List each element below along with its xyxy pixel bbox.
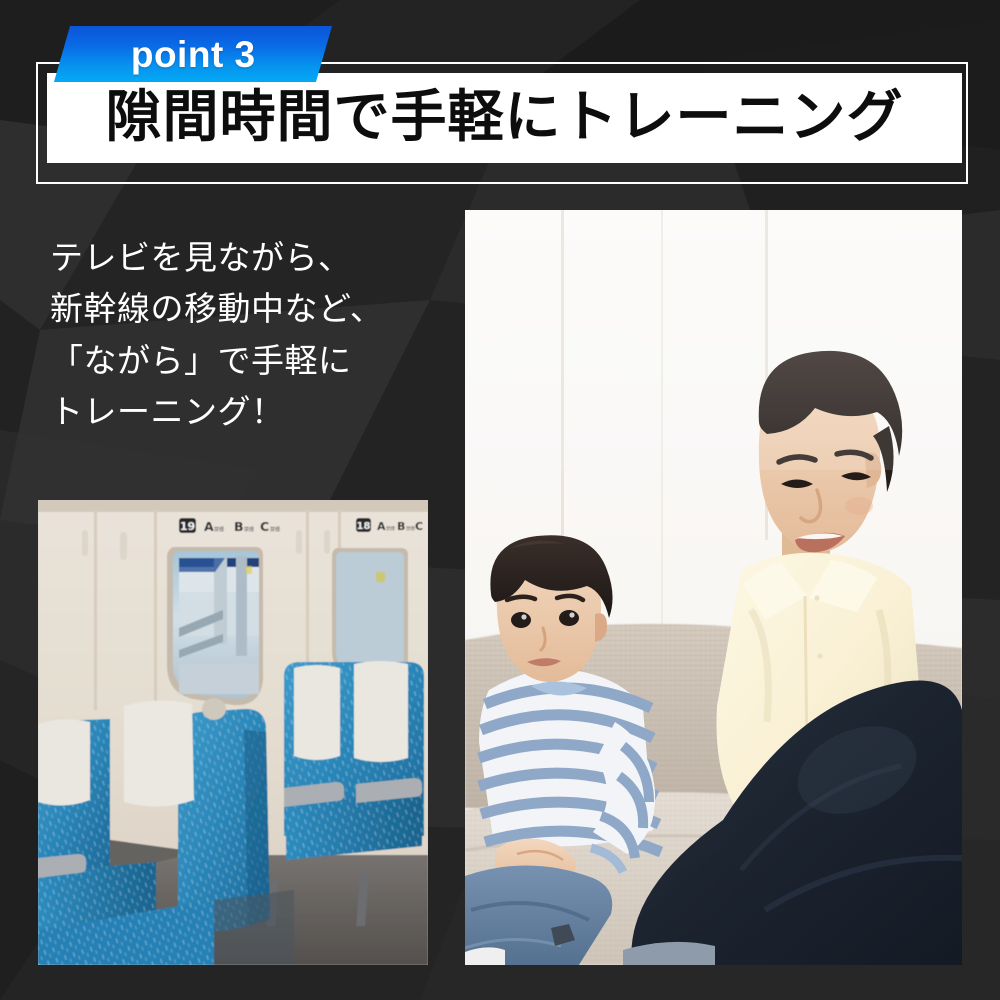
body-copy-line-4: トレーニング！ <box>50 386 450 437</box>
body-copy-line-1: テレビを見ながら、 <box>50 232 450 283</box>
father-and-son-on-sofa-photo <box>465 210 962 965</box>
title-box: 隙間時間で手軽にトレーニング <box>47 73 962 163</box>
body-copy-line-3: 「ながら」で手軽に <box>50 335 450 386</box>
point-badge-label: point 3 <box>131 36 256 73</box>
body-copy-line-2: 新幹線の移動中など、 <box>50 283 450 334</box>
shinkansen-interior-photo: 19 A 禁煙 B 禁煙 C 禁煙 18 A 禁煙 B 禁煙 C <box>38 500 428 965</box>
point-badge: point 3 <box>54 26 332 82</box>
body-copy: テレビを見ながら、 新幹線の移動中など、 「ながら」で手軽に トレーニング！ <box>50 232 450 438</box>
page-title: 隙間時間で手軽にトレーニング <box>106 90 904 146</box>
